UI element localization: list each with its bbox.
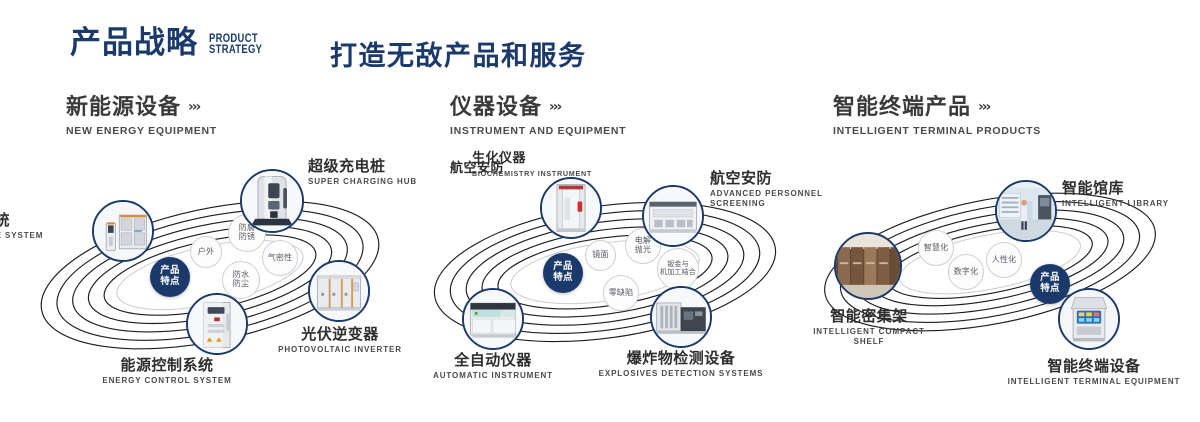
orbit-group-instrument: 产品 特点 镜面 电解 抛光 钣金与 机加工结合 零缺陷 航空安防 — [400, 150, 820, 400]
node-intelligent-terminal-equipment[interactable] — [1058, 288, 1120, 350]
kiosk-terminal-icon — [1060, 290, 1118, 348]
section-title-intelligent-terminal: 智能终端产品››› INTELLIGENT TERMINAL PRODUCTS — [833, 96, 1041, 137]
feature-bubble-line2: 抛光 — [635, 246, 651, 255]
caption-en: AUTOMATIC INSTRUMENT — [393, 371, 593, 381]
analyzer-box-icon — [644, 187, 702, 245]
chevron-right-icon: ››› — [978, 99, 989, 115]
caption-cn: 智能终端设备 — [994, 358, 1194, 375]
feature-bubble-digital: 数字化 — [948, 254, 984, 290]
node-explosives-detection-systems[interactable] — [650, 286, 712, 348]
section-title-cn-text: 智能终端产品 — [833, 95, 971, 120]
section-title-en: INSTRUMENT AND EQUIPMENT — [450, 125, 626, 137]
scanner-unit-icon — [652, 288, 710, 346]
page-title-en: PRODUCT STRATEGY — [209, 34, 262, 57]
section-title-instrument: 仪器设备››› INSTRUMENT AND EQUIPMENT — [450, 96, 626, 137]
compact-shelf-icon — [836, 234, 900, 298]
pv-inverter-icon — [310, 262, 368, 320]
node-biochemistry-instrument[interactable] — [540, 177, 602, 239]
page-slogan: 打造无敌产品和服务 — [330, 34, 587, 73]
page-title-cn: 产品战略 — [70, 28, 198, 59]
core-bubble-product-features: 产品 特点 — [543, 253, 583, 293]
caption-automatic-instrument: 全自动仪器 AUTOMATIC INSTRUMENT — [393, 352, 593, 381]
caption-cn: 能源控制系统 — [67, 357, 267, 374]
caption-cn: 智能密集架 — [774, 308, 964, 325]
library-room-icon — [997, 182, 1055, 240]
feature-bubble-mirror-finish: 镜面 — [585, 240, 616, 271]
page-title-en-line2: STRATEGY — [209, 45, 262, 57]
section-title-cn-text: 仪器设备 — [450, 95, 542, 120]
caption-en: BIOCHEMISTRY INSTRUMENT — [472, 169, 592, 178]
charging-pile-icon — [242, 171, 302, 231]
core-bubble-line2: 特点 — [160, 277, 179, 288]
caption-cn: 爆炸物检测设备 — [581, 350, 781, 367]
node-intelligent-library[interactable] — [995, 180, 1057, 242]
orbit-group-new-energy: 产品 特点 户外 防腐 防锈 防水 防尘 气密性 — [0, 150, 420, 400]
caption-cn: 全自动仪器 — [393, 352, 593, 369]
caption-cn: 储能系统 — [0, 212, 10, 229]
energy-storage-cabinet-icon — [94, 202, 152, 260]
caption-en: ENERGY CONTROL SYSTEM — [67, 376, 267, 386]
node-advanced-personnel-screening[interactable] — [642, 185, 704, 247]
feature-bubble-zero-defect: 零缺陷 — [603, 275, 639, 311]
orbit-group-intelligent-terminal: 智慧化 数字化 人性化 产品 特点 智能馆库 I — [790, 150, 1200, 400]
caption-explosives-detection-systems: 爆炸物检测设备 EXPLOSIVES DETECTION SYSTEMS — [581, 350, 781, 379]
caption-en: INTELLIGENT TERMINAL EQUIPMENT — [994, 377, 1194, 387]
auto-instrument-icon — [464, 290, 522, 348]
caption-intelligent-compact-shelf: 智能密集架 INTELLIGENT COMPACT SHELF — [774, 308, 964, 347]
node-automatic-instrument[interactable] — [462, 288, 524, 350]
node-energy-control-system[interactable] — [186, 293, 248, 355]
section-title-en: INTELLIGENT TERMINAL PRODUCTS — [833, 125, 1041, 137]
caption-intelligent-library: 智能馆库 INTELLIGENT LIBRARY — [1062, 180, 1200, 209]
page-title-en-line1: PRODUCT — [209, 34, 262, 46]
section-title-new-energy: 新能源设备››› NEW ENERGY EQUIPMENT — [66, 96, 217, 137]
feature-bubble-line2: 防锈 — [239, 233, 255, 242]
feature-bubble-intelligent: 智慧化 — [918, 230, 954, 266]
caption-intelligent-terminal-equipment: 智能终端设备 INTELLIGENT TERMINAL EQUIPMENT — [994, 358, 1194, 387]
feature-bubble-humanized: 人性化 — [986, 242, 1022, 278]
chevron-right-icon: ››› — [549, 99, 560, 115]
caption-cn: 智能馆库 — [1062, 180, 1200, 197]
chevron-right-icon: ››› — [188, 99, 199, 115]
caption-en: ENERGY STORAGE SYSTEM — [0, 231, 10, 241]
caption-cn: 生化仪器 — [472, 152, 592, 167]
core-bubble-line2: 特点 — [553, 273, 572, 284]
feature-bubble-line2: 机加工结合 — [660, 269, 696, 277]
caption-en: INTELLIGENT LIBRARY — [1062, 199, 1200, 209]
node-photovoltaic-inverter[interactable] — [308, 260, 370, 322]
feature-bubble-outdoor: 户外 — [190, 236, 222, 268]
section-title-en: NEW ENERGY EQUIPMENT — [66, 125, 217, 137]
feature-bubble-line2: 防尘 — [233, 280, 249, 289]
section-title-cn: 智能终端产品››› — [833, 96, 1041, 120]
product-strategy-infographic: 产品战略 PRODUCT STRATEGY 打造无敌产品和服务 新能源设备›››… — [0, 0, 1200, 422]
node-intelligent-compact-shelf[interactable] — [834, 232, 902, 300]
node-super-charging-hub[interactable] — [240, 169, 304, 233]
caption-energy-control-system: 能源控制系统 ENERGY CONTROL SYSTEM — [67, 357, 267, 386]
control-cabinet-icon — [188, 295, 246, 353]
page-header: 产品战略 PRODUCT STRATEGY — [70, 28, 274, 59]
section-title-cn: 仪器设备››› — [450, 96, 626, 120]
core-bubble-product-features: 产品 特点 — [150, 257, 190, 297]
caption-energy-storage-system: 储能系统 ENERGY STORAGE SYSTEM — [0, 212, 10, 241]
caption-en: EXPLOSIVES DETECTION SYSTEMS — [581, 369, 781, 379]
feature-bubble-airtightness: 气密性 — [262, 240, 298, 276]
core-bubble-line2: 特点 — [1040, 284, 1059, 295]
feature-bubble-sheetmetal-machining: 钣金与 机加工结合 — [657, 248, 699, 290]
caption-en: INTELLIGENT COMPACT SHELF — [774, 327, 964, 347]
security-gate-icon — [542, 179, 600, 237]
feature-bubble-waterproof: 防水 防尘 — [222, 261, 260, 299]
section-title-cn: 新能源设备››› — [66, 96, 217, 120]
node-energy-storage-system[interactable] — [92, 200, 154, 262]
section-title-cn-text: 新能源设备 — [66, 95, 181, 120]
caption-biochemistry-instrument: 生化仪器 BIOCHEMISTRY INSTRUMENT — [472, 152, 592, 178]
